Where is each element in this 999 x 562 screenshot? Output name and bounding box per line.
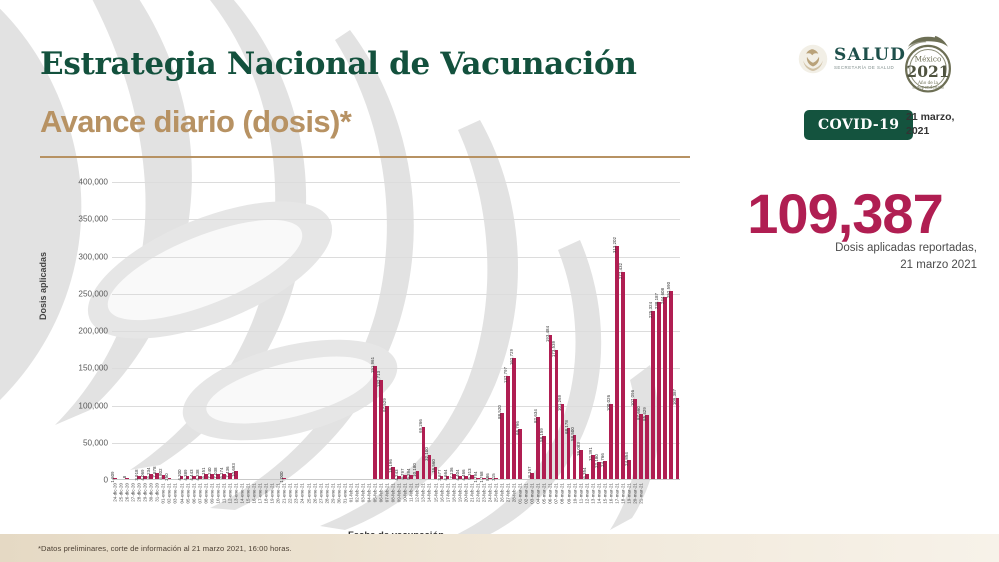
x-axis-tick-label: 08-mar-21 xyxy=(560,483,565,504)
x-axis-tick-label: 26-ene-21 xyxy=(312,483,317,504)
y-axis-tick-label: 300,000 xyxy=(78,252,108,261)
bar-value-label: 4,404 xyxy=(455,469,460,480)
x-axis-tick-label: 15-ene-21 xyxy=(246,483,251,504)
x-axis-tick-label: 04-ene-21 xyxy=(179,483,184,504)
bar-value-label: 162,729 xyxy=(509,349,514,365)
bar-series: 1,60983,9184,0696,2347,8784,8022504,2004… xyxy=(112,182,680,479)
x-axis-tick-label: 25-feb-21 xyxy=(493,483,498,502)
x-axis-tick-label: 09-feb-21 xyxy=(397,483,402,502)
mexico-2021-seal-icon: México 2021 Año de la Independencia xyxy=(900,34,956,96)
daily-doses-bar-chart: Dosis aplicadas 050,000100,000150,000200… xyxy=(40,182,680,522)
bar-value-label: 1,768 xyxy=(479,471,484,482)
bar-value-label: 32,100 xyxy=(424,447,429,461)
bar[interactable]: 10,180 xyxy=(416,471,420,479)
bar-value-label: 58,159 xyxy=(539,428,544,442)
y-axis-tick-label: 100,000 xyxy=(78,401,108,410)
x-axis-tick-label: 26-dic-20 xyxy=(125,483,130,502)
x-axis-tick-label: 19-ene-21 xyxy=(270,483,275,504)
x-axis-tick-label: 31-dic-20 xyxy=(155,483,160,502)
bar[interactable]: 101,269 xyxy=(561,404,565,479)
x-axis-tick-label: 02-ene-21 xyxy=(167,483,172,504)
x-axis-tick-label: 03-mar-21 xyxy=(530,483,535,504)
x-axis-tick-label: 03-ene-21 xyxy=(173,483,178,504)
x-axis-tick-label: 20-ene-21 xyxy=(276,483,281,504)
bar-value-label: 66,796 xyxy=(515,421,520,435)
x-axis-tick-label: 27-feb-21 xyxy=(506,483,511,502)
x-axis-tick-label: 13-feb-21 xyxy=(421,483,426,502)
covid-19-badge: COVID-19 xyxy=(804,110,913,140)
bar[interactable]: 244,608 xyxy=(663,297,667,479)
x-axis-tick-label: 24-ene-21 xyxy=(300,483,305,504)
bar[interactable]: 10,693 xyxy=(234,471,238,479)
x-axis-tick-label: 06-mar-21 xyxy=(548,483,553,504)
bar[interactable]: 8 xyxy=(125,478,129,479)
x-axis-tick-label: 17-ene-21 xyxy=(258,483,263,504)
x-axis-tick-label: 17-mar-21 xyxy=(614,483,619,504)
x-axis-tick-label: 27-ene-21 xyxy=(318,483,323,504)
x-axis-tick-label: 05-ene-21 xyxy=(185,483,190,504)
bar[interactable]: 137,797 xyxy=(506,376,510,479)
bar[interactable]: 100,026 xyxy=(609,404,613,479)
x-axis-tick-label: 19-feb-21 xyxy=(457,483,462,502)
bar-value-label: 97,529 xyxy=(382,398,387,412)
mexico-eagle-icon xyxy=(798,44,828,74)
bar-value-label: 100,026 xyxy=(606,395,611,411)
x-axis-tick-label: 11-ene-21 xyxy=(221,483,226,503)
y-axis-tick-label: 250,000 xyxy=(78,289,108,298)
x-axis-tick-label: 30-dic-20 xyxy=(149,483,154,502)
x-axis-tick-label: 14-feb-21 xyxy=(427,483,432,502)
bar-value-label: 6,151 xyxy=(201,468,206,479)
y-axis-tick-label: 0 xyxy=(103,476,108,485)
bar-value-label: 4,664 xyxy=(443,469,448,480)
x-axis-tick-label: 16-ene-21 xyxy=(252,483,257,504)
bar[interactable]: 85,429 xyxy=(645,415,649,479)
salud-word: SALUD xyxy=(834,47,906,64)
bar[interactable]: 88,520 xyxy=(500,413,504,479)
bar-value-label: 58,500 xyxy=(570,428,575,442)
bar[interactable]: 1,000 xyxy=(282,478,286,479)
bar-value-label: 4,466 xyxy=(461,469,466,480)
x-axis-tick-label: 20-mar-21 xyxy=(633,483,638,504)
footer-bar: *Datos preliminares, corte de informació… xyxy=(0,534,999,562)
bar-value-label: 238,187 xyxy=(654,292,659,308)
bar-value-label: 7,136 xyxy=(449,467,454,478)
x-axis-tick-label: 24-dic-20 xyxy=(113,483,118,502)
x-axis-tick-label: 27-dic-20 xyxy=(131,483,136,502)
bar-value-label: 132,713 xyxy=(376,371,381,387)
page-title: Estrategia Nacional de Vacunación xyxy=(40,46,637,82)
x-axis-tick-label: 06-ene-21 xyxy=(191,483,196,504)
x-axis-tick-label: 21-mar-21 xyxy=(639,483,644,504)
bar-value-label: 1,794 xyxy=(473,471,478,482)
x-axis-tick-label: 15-mar-21 xyxy=(602,483,607,504)
bar-value-label: 16,560 xyxy=(431,459,436,473)
bar[interactable]: 1,609 xyxy=(113,478,117,479)
bar[interactable]: 173,539 xyxy=(555,350,559,479)
x-axis-tick-label: 21-ene-21 xyxy=(282,483,287,504)
x-axis-tick-label: 14-ene-21 xyxy=(240,483,245,504)
x-axis-tick-label: 12-feb-21 xyxy=(415,483,420,502)
bar-value-label: 7,240 xyxy=(207,467,212,478)
kpi-total-doses: 109,387 xyxy=(705,181,985,246)
x-axis-tick-label: 18-mar-21 xyxy=(620,483,625,504)
bar-value-label: 68,178 xyxy=(564,420,569,434)
bar-value-label: 137,797 xyxy=(503,367,508,383)
x-axis-tick-label: 12-ene-21 xyxy=(227,483,232,504)
x-axis-tick-label: 03-feb-21 xyxy=(360,483,365,502)
x-axis-tick-label: 16-mar-21 xyxy=(608,483,613,504)
bar-value-label: 4,200 xyxy=(177,469,182,480)
bar-value-label: 32,391 xyxy=(588,447,593,461)
bar[interactable]: 58,159 xyxy=(542,436,546,479)
y-axis-tick-label: 150,000 xyxy=(78,364,108,373)
svg-text:2021: 2021 xyxy=(906,62,949,81)
x-axis-tick-label: 23-ene-21 xyxy=(294,483,299,504)
x-axis-tick-label: 08-ene-21 xyxy=(203,483,208,504)
bar-value-label: 69,266 xyxy=(418,420,423,434)
bar[interactable]: 238,187 xyxy=(657,302,661,479)
bar-value-label: 244,608 xyxy=(660,288,665,304)
x-axis-tick-label: 18-ene-21 xyxy=(264,483,269,504)
x-axis-tick-label: 04-mar-21 xyxy=(536,483,541,504)
bar[interactable]: 250 xyxy=(168,478,172,479)
bar-value-label: 252,590 xyxy=(666,282,671,298)
x-axis-tick-label: 28-dic-20 xyxy=(137,483,142,502)
bar[interactable]: 8,167 xyxy=(530,473,534,479)
bar-value-label: 7,038 xyxy=(213,467,218,478)
y-axis-tick-label: 200,000 xyxy=(78,327,108,336)
x-axis-tick-label: 19-mar-21 xyxy=(627,483,632,504)
x-axis-tick-label: 23-feb-21 xyxy=(481,483,486,502)
bar-value-label: 6,174 xyxy=(219,468,224,479)
bar-value-label: 886 xyxy=(485,474,490,481)
bar-value-label: 5,294 xyxy=(406,468,411,479)
bar-value-label: 82,634 xyxy=(533,410,538,424)
x-axis-tick-label: 05-feb-21 xyxy=(373,483,378,502)
bar-value-label: 24,766 xyxy=(600,453,605,467)
bar-value-label: 4,797 xyxy=(400,469,405,480)
bar-value-label: 6,354 xyxy=(582,468,587,479)
x-axis-tick-label: 26-feb-21 xyxy=(500,483,505,502)
bar[interactable]: 87,660 xyxy=(639,414,643,479)
salud-subtitle: SECRETARÍA DE SALUD xyxy=(834,66,906,70)
bar[interactable]: 6,354 xyxy=(585,474,589,479)
bar-slot[interactable]: 109,387 xyxy=(674,182,680,479)
bar-value-label: 250 xyxy=(164,474,169,481)
x-axis-tick-label: 02-feb-21 xyxy=(354,483,359,502)
bar-value-label: 85,429 xyxy=(642,407,647,421)
x-axis-tick-label: 28-ene-21 xyxy=(324,483,329,504)
x-axis-tick-label: 17-feb-21 xyxy=(445,483,450,502)
bar-value-label: 193,484 xyxy=(545,326,550,342)
header-date: 21 marzo,2021 xyxy=(906,110,954,138)
x-axis-tick-label: 18-feb-21 xyxy=(451,483,456,502)
bar-value-label: 8 xyxy=(122,476,127,479)
bar-value-label: 313,202 xyxy=(612,237,617,253)
bar[interactable]: 252,590 xyxy=(669,291,673,479)
x-axis-tick-label: 13-mar-21 xyxy=(590,483,595,504)
x-axis-tick-label: 01-ene-21 xyxy=(161,483,166,504)
bar-value-label: 7,878 xyxy=(152,467,157,478)
x-axis-slot xyxy=(674,482,680,534)
kpi-caption: Dosis aplicadas reportadas,21 marzo 2021 xyxy=(705,240,985,273)
bar-value-label: 3,918 xyxy=(134,469,139,480)
bar-value-label: 22,180 xyxy=(594,455,599,469)
bar-value-label: 39,083 xyxy=(576,442,581,456)
x-axis-tick-label: 22-ene-21 xyxy=(288,483,293,504)
x-axis-tick-label: 13-ene-21 xyxy=(233,483,238,504)
x-axis-tick-label: 08-feb-21 xyxy=(391,483,396,502)
title-divider xyxy=(40,156,690,158)
bar[interactable]: 315 xyxy=(494,478,498,479)
y-axis-tick-label: 50,000 xyxy=(83,438,108,447)
x-axis-tick-label: 29-ene-21 xyxy=(330,483,335,504)
bar[interactable]: 313,202 xyxy=(615,246,619,479)
x-axis-tick-label: 16-feb-21 xyxy=(439,483,444,502)
x-axis-tick-label: 02-mar-21 xyxy=(524,483,529,504)
bar[interactable]: 277,432 xyxy=(621,272,625,479)
bar-value-label: 151,961 xyxy=(370,357,375,373)
bar-value-label: 3,677 xyxy=(437,470,442,481)
bar-value-label: 101,269 xyxy=(557,394,562,410)
x-axis-tick-label: 22-feb-21 xyxy=(475,483,480,502)
bar-value-label: 10,180 xyxy=(412,464,417,478)
x-axis-tick-label: 07-ene-21 xyxy=(197,483,202,504)
bar-value-label: 315 xyxy=(491,474,496,481)
x-axis-tick-label: 06-feb-21 xyxy=(379,483,384,502)
bar[interactable]: 162,729 xyxy=(512,358,516,479)
x-axis-tick-label: 04-feb-21 xyxy=(366,483,371,502)
bar[interactable]: 82,634 xyxy=(536,417,540,479)
x-axis-tick-label: 29-dic-20 xyxy=(143,483,148,502)
x-axis-tick-label: 20-feb-21 xyxy=(463,483,468,502)
svg-text:Independencia: Independencia xyxy=(912,85,944,90)
x-axis-tick-label: 21-feb-21 xyxy=(469,483,474,502)
x-axis-tick-label: 01-mar-21 xyxy=(518,483,523,504)
y-axis-tick-label: 400,000 xyxy=(78,178,108,187)
x-axis-tick-label: 07-feb-21 xyxy=(385,483,390,502)
bar-value-label: 225,324 xyxy=(648,302,653,318)
x-axis-tick-label: 10-feb-21 xyxy=(403,483,408,502)
footnote: *Datos preliminares, corte de informació… xyxy=(0,544,292,553)
bar-value-label: 24,854 xyxy=(624,453,629,467)
bar[interactable]: 109,387 xyxy=(676,398,680,479)
x-axis-tick-label: 10-ene-21 xyxy=(215,483,220,504)
x-axis-ticks: 24-dic-2025-dic-2026-dic-2027-dic-2028-d… xyxy=(112,482,680,534)
bar-value-label: 109,387 xyxy=(672,388,677,404)
y-axis-tick-label: 350,000 xyxy=(78,215,108,224)
bar[interactable]: 225,324 xyxy=(651,311,655,479)
bar-value-label: 16,196 xyxy=(388,459,393,473)
bar[interactable]: 24,766 xyxy=(603,461,607,479)
bar-value-label: 173,539 xyxy=(551,341,556,357)
salud-wordmark: SALUD SECRETARÍA DE SALUD xyxy=(834,47,906,70)
bar-value-label: 5,313 xyxy=(467,468,472,479)
bar-value-label: 7,436 xyxy=(225,467,230,478)
bar-value-label: 1,609 xyxy=(110,471,115,482)
x-axis-tick-label: 05-mar-21 xyxy=(542,483,547,504)
bar-value-label: 4,069 xyxy=(140,469,145,480)
bar-value-label: 4,389 xyxy=(183,469,188,480)
x-axis-tick-label: 28-feb-21 xyxy=(512,483,517,502)
page-subtitle: Avance diario (dosis)* xyxy=(40,104,351,140)
x-axis-tick-label: 25-ene-21 xyxy=(306,483,311,504)
x-axis-tick-label: 09-mar-21 xyxy=(566,483,571,504)
x-axis-tick-label: 30-ene-21 xyxy=(336,483,341,504)
bar[interactable]: 66,796 xyxy=(518,429,522,479)
bar-value-label: 4,338 xyxy=(195,469,200,480)
x-axis-tick-label: 12-mar-21 xyxy=(584,483,589,504)
x-axis-tick-label: 11-mar-21 xyxy=(578,483,583,503)
bar-value-label: 87,660 xyxy=(636,406,641,420)
x-axis-tick-label: 01-feb-21 xyxy=(348,483,353,502)
bar-value-label: 8,167 xyxy=(527,466,532,477)
x-axis-tick-label: 09-ene-21 xyxy=(209,483,214,504)
y-axis-ticks: 050,000100,000150,000200,000250,000300,0… xyxy=(54,182,108,480)
bar-value-label: 10,693 xyxy=(231,463,236,477)
bar[interactable]: 132,713 xyxy=(379,380,383,479)
x-axis-tick-label: 07-mar-21 xyxy=(554,483,559,504)
bar[interactable]: 24,854 xyxy=(627,460,631,479)
plot-area: 1,60983,9184,0696,2347,8784,8022504,2004… xyxy=(112,182,680,480)
bar-value-label: 6,234 xyxy=(146,468,151,479)
bar-value-label: 107,096 xyxy=(630,390,635,406)
x-axis-tick-label: 24-feb-21 xyxy=(487,483,492,502)
bar-value-label: 277,432 xyxy=(618,263,623,279)
x-axis-tick-label: 10-mar-21 xyxy=(572,483,577,504)
x-axis-tick-label: 14-mar-21 xyxy=(596,483,601,504)
x-axis-tick-label: 25-dic-20 xyxy=(119,483,124,502)
x-axis-tick-label: 31-ene-21 xyxy=(342,483,347,504)
bar-value-label: 88,520 xyxy=(497,405,502,419)
x-axis-tick-label: 15-feb-21 xyxy=(433,483,438,502)
salud-logo: SALUD SECRETARÍA DE SALUD xyxy=(798,44,906,74)
slide-root: Estrategia Nacional de Vacunación Avance… xyxy=(0,0,999,562)
bar-value-label: 4,443 xyxy=(189,469,194,480)
x-axis-tick-label: 11-feb-21 xyxy=(409,483,414,502)
y-axis-title: Dosis aplicadas xyxy=(38,252,48,320)
bar-value-label: 4,243 xyxy=(394,469,399,480)
bar-value-label: 4,802 xyxy=(158,469,163,480)
